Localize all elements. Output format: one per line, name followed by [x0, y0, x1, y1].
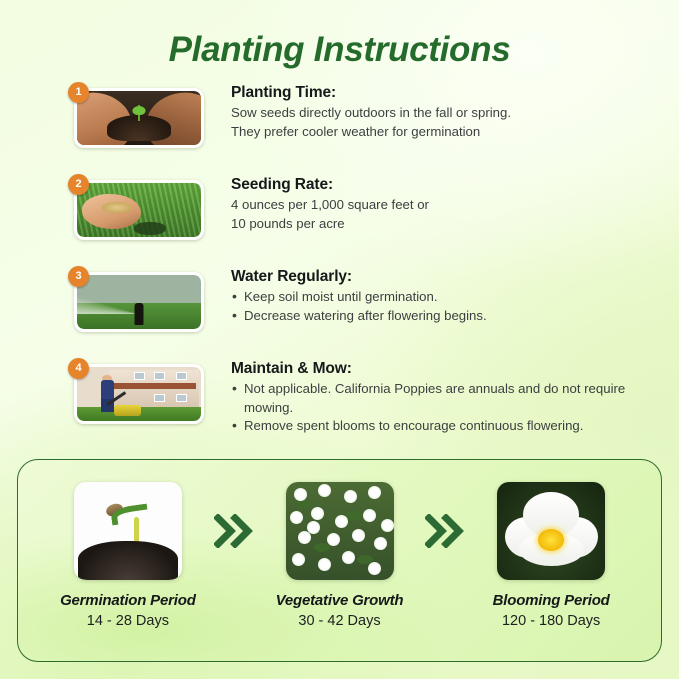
step-line: 10 pounds per acre	[231, 215, 671, 234]
step-item: 3 Water Regularly: Keep soil moist until…	[0, 268, 679, 360]
step-bullet: Remove spent blooms to encourage continu…	[231, 417, 671, 436]
stage-duration: 14 - 28 Days	[44, 613, 212, 629]
step-text-block: Seeding Rate: 4 ounces per 1,000 square …	[231, 176, 671, 233]
step-bullet-list: Not applicable. California Poppies are a…	[231, 380, 671, 436]
double-chevron-right-icon	[423, 482, 467, 580]
stage-thumbnail	[497, 482, 605, 580]
person-mowing-lawn-by-house-image	[77, 367, 201, 421]
thumbnail-frame	[74, 180, 204, 240]
step-line: They prefer cooler weather for germinati…	[231, 123, 671, 142]
thumbnail-frame	[74, 272, 204, 332]
thumbnail-frame	[74, 88, 204, 148]
step-bullet: Decrease watering after flowering begins…	[231, 307, 671, 326]
step-bullet-list: Keep soil moist until germination. Decre…	[231, 288, 671, 325]
stage-duration: 120 - 180 Days	[467, 613, 635, 629]
thumbnail-frame	[74, 364, 204, 424]
step-text-block: Maintain & Mow: Not applicable. Californ…	[231, 360, 671, 436]
step-item: 1 Planting Time: Sow seeds directly outd…	[0, 84, 679, 176]
step-line: 4 ounces per 1,000 square feet or	[231, 196, 671, 215]
step-text-block: Planting Time: Sow seeds directly outdoo…	[231, 84, 671, 141]
stage-thumbnail	[286, 482, 394, 580]
step-number-badge: 4	[68, 358, 89, 379]
step-heading: Water Regularly:	[231, 268, 671, 286]
timeline-stage-germination: Germination Period 14 - 28 Days	[44, 482, 212, 629]
step-bullet: Keep soil moist until germination.	[231, 288, 671, 307]
timeline-stages: Germination Period 14 - 28 Days	[18, 460, 661, 661]
step-number-badge: 1	[68, 82, 89, 103]
white-flower-cluster-foliage-image	[286, 482, 394, 580]
stage-label: Germination Period	[44, 592, 212, 609]
infographic-page: Planting Instructions 1 Planting Time: S…	[0, 0, 679, 679]
step-item: 2 Seeding Rate: 4 ounces per 1,000 squar…	[0, 176, 679, 268]
page-title: Planting Instructions	[0, 30, 679, 70]
step-number-badge: 2	[68, 174, 89, 195]
stage-label: Blooming Period	[467, 592, 635, 609]
step-body: Sow seeds directly outdoors in the fall …	[231, 104, 671, 141]
step-thumbnail-seeding-rate: 2	[74, 180, 204, 240]
white-poppy-bloom-image	[497, 482, 605, 580]
stage-duration: 30 - 42 Days	[256, 613, 424, 629]
step-bullet: Not applicable. California Poppies are a…	[231, 380, 671, 417]
stage-label: Vegetative Growth	[256, 592, 424, 609]
step-body: 4 ounces per 1,000 square feet or 10 pou…	[231, 196, 671, 233]
lawn-sprinkler-spraying-water-image	[77, 275, 201, 329]
growth-timeline-panel: Germination Period 14 - 28 Days	[17, 459, 662, 662]
double-chevron-right-icon	[212, 482, 256, 580]
step-thumbnail-maintain-mow: 4	[74, 364, 204, 424]
stage-thumbnail	[74, 482, 182, 580]
step-thumbnail-planting-time: 1	[74, 88, 204, 148]
step-thumbnail-water-regularly: 3	[74, 272, 204, 332]
step-heading: Seeding Rate:	[231, 176, 671, 194]
timeline-stage-vegetative: Vegetative Growth 30 - 42 Days	[256, 482, 424, 629]
step-heading: Planting Time:	[231, 84, 671, 102]
step-item: 4 Maintain & Mow: Not applicable. Califo…	[0, 360, 679, 452]
step-heading: Maintain & Mow:	[231, 360, 671, 378]
sprouting-seed-in-soil-image	[74, 482, 182, 580]
hands-holding-soil-with-sprout-image	[77, 91, 201, 145]
steps-list: 1 Planting Time: Sow seeds directly outd…	[0, 84, 679, 452]
hand-spreading-seed-on-grass-image	[77, 183, 201, 237]
step-text-block: Water Regularly: Keep soil moist until g…	[231, 268, 671, 325]
timeline-stage-blooming: Blooming Period 120 - 180 Days	[467, 482, 635, 629]
step-number-badge: 3	[68, 266, 89, 287]
step-line: Sow seeds directly outdoors in the fall …	[231, 104, 671, 123]
